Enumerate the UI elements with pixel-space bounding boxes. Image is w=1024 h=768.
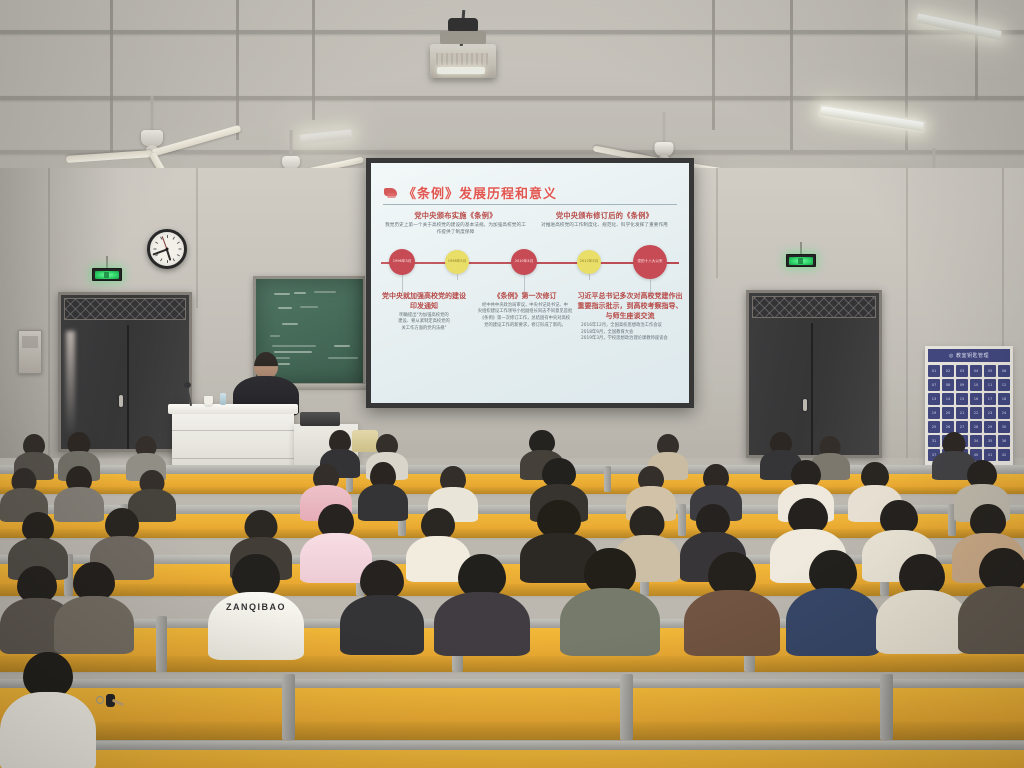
timeline-node: 1996年3月 xyxy=(389,249,415,275)
paper-cup xyxy=(204,396,213,405)
bottom-block-3-body: 2016年12月，全国高校思想政治工作会议2018年9月，全国教育大会2019年… xyxy=(575,323,685,343)
timeline-node-label: 2012年5月 xyxy=(579,258,600,264)
microphone-icon xyxy=(184,382,191,388)
bottom-block-3-heading: 习近平总书记多次对高校党建作出重要指示批示，到高校考察指导、与师生座谈交流 xyxy=(575,291,685,321)
bottom-block-body-line: 2019年3月，学校思想政治理论课教师座谈会 xyxy=(581,336,685,343)
party-emblem-icon xyxy=(383,186,399,199)
key-board-header: ◎ 教室钥匙管理 xyxy=(928,349,1010,362)
bottom-block-body-line: 2016年12月，全国高校思想政治工作会议 xyxy=(581,323,685,330)
slide-top-blocks: 党中央颁布实施《条例》 我党历史上第一个关于高校党的建设的基本法规，为加强高校党… xyxy=(379,211,681,237)
key-board-cell[interactable]: 10 xyxy=(970,379,982,391)
projection-screen: 《条例》发展历程和意义 党中央颁布实施《条例》 我党历史上第一个关于高校党的建设… xyxy=(366,158,694,408)
timeline-node: 2010年4月 xyxy=(511,249,537,275)
key-board-cell[interactable]: 21 xyxy=(956,407,968,419)
slide-bottom-block-2: 《条例》第一次修订 经中共中央政治局审议，中央书记处书记、中央组织建设工作领导小… xyxy=(477,291,573,330)
console-monitor xyxy=(300,412,340,426)
key-board-cell[interactable]: 05 xyxy=(984,365,996,377)
student-r3-white2 xyxy=(876,554,968,652)
bottom-block-body-line: 关工作方面的党内法规" xyxy=(381,326,467,333)
key-board-cell[interactable]: 11 xyxy=(984,379,996,391)
timeline-connector xyxy=(589,274,590,280)
timeline-node: 2012年5月 xyxy=(577,250,601,274)
student-r3-whitejacket: ZANQIBAO xyxy=(208,554,304,654)
wall-clock xyxy=(147,229,187,269)
student-r3-2 xyxy=(54,562,134,650)
slide-top-block-2: 党中央颁布修订后的《条例》 对推进高校党的工作制度化、规范化、科学化发挥了重要作… xyxy=(532,211,677,237)
key-board-cell[interactable]: 03 xyxy=(956,365,968,377)
student-r3-blue xyxy=(786,550,880,652)
exit-sign-stem-left xyxy=(106,256,108,268)
key-board-cell[interactable]: 22 xyxy=(970,407,982,419)
water-bottle xyxy=(220,393,226,405)
emergency-exit-sign-right xyxy=(786,254,816,267)
door-left-transom xyxy=(64,298,186,320)
key-board-cell[interactable]: 23 xyxy=(984,407,996,419)
emergency-exit-sign-left xyxy=(92,268,122,281)
bottom-block-body-line: 央组织建设工作领导小组副组长同志不同意见首批 xyxy=(477,309,573,316)
desk-row-2 xyxy=(0,686,1024,740)
exit-running-man-icon xyxy=(95,271,119,279)
key-board-cell[interactable]: 16 xyxy=(970,393,982,405)
door-right-transom xyxy=(752,296,876,318)
timeline-node-label: 党的十八大以来 xyxy=(636,258,663,264)
key-board-cell[interactable]: 17 xyxy=(984,393,996,405)
top-block-1-heading: 党中央颁布实施《条例》 xyxy=(383,211,528,221)
key-board-cell[interactable]: 07 xyxy=(928,379,940,391)
key-board-cell[interactable]: 09 xyxy=(956,379,968,391)
bottom-block-1-heading: 党中央就加强高校党的建设印发通知 xyxy=(381,291,467,311)
slide-bottom-blocks: 党中央就加强高校党的建设印发通知 明确提出"为加强高校党的建设、要从紧制定高校党… xyxy=(379,291,681,377)
timeline-node-label: 2010年4月 xyxy=(514,258,535,264)
slide-timeline: 1996年3月1998年5月2010年4月2012年5月党的十八大以来 xyxy=(381,243,679,283)
slide-title-divider xyxy=(383,204,677,205)
timeline-node: 1998年5月 xyxy=(445,250,469,274)
exit-running-man-icon-2 xyxy=(789,257,813,265)
audience-seating: ZANQIBAO xyxy=(0,430,1024,768)
bottom-block-body-line: 党的建设工作的新要求，修订形成了新的。 xyxy=(477,323,573,330)
key-board-cell[interactable]: 14 xyxy=(942,393,954,405)
student-r3-4 xyxy=(340,560,424,652)
key-board-cell[interactable]: 24 xyxy=(998,407,1010,419)
top-block-2-heading: 党中央颁布修订后的《条例》 xyxy=(532,211,677,221)
key-board-cell[interactable]: 01 xyxy=(928,365,940,377)
student-r3-brown xyxy=(684,552,780,652)
key-board-cell[interactable]: 08 xyxy=(942,379,954,391)
car-key-fob[interactable] xyxy=(94,692,124,710)
lecture-hall-photo: ◎ 教室钥匙管理 0102030405060708091011121314151… xyxy=(0,0,1024,768)
key-board-cell[interactable]: 13 xyxy=(928,393,940,405)
slide-title: 《条例》发展历程和意义 xyxy=(403,183,557,202)
top-block-2-body: 对推进高校党的工作制度化、规范化、科学化发挥了重要作用 xyxy=(532,223,677,230)
timeline-node-label: 1996年3月 xyxy=(392,258,413,264)
key-board-cell[interactable]: 02 xyxy=(942,365,954,377)
bottom-block-1-body: 明确提出"为加强高校党的建设、要从紧制定高校党的关工作方面的党内法规" xyxy=(381,313,467,333)
bottom-block-2-heading: 《条例》第一次修订 xyxy=(477,291,573,301)
presentation-slide: 《条例》发展历程和意义 党中央颁布实施《条例》 我党历史上第一个关于高校党的建设… xyxy=(371,163,689,403)
exit-sign-stem-right xyxy=(800,242,802,254)
key-board-cell[interactable]: 12 xyxy=(998,379,1010,391)
bottom-block-body-line: 《条例》第一次修订工作，总结固有中央对高校 xyxy=(477,316,573,323)
student-r1-1 xyxy=(0,652,96,768)
timeline-node: 党的十八大以来 xyxy=(633,245,667,279)
bottom-block-2-body: 经中共中央政治局审议，中央书记处书记、中央组织建设工作领导小组副组长同志不同意见… xyxy=(477,303,573,330)
student-r3-5 xyxy=(434,554,530,652)
top-block-1-body: 我党历史上第一个关于高校党的建设的基本法规，为加强高校党的工作提供了制度保障 xyxy=(383,223,528,237)
desk-row-1 xyxy=(0,748,1024,768)
slide-bottom-block-3: 习近平总书记多次对高校党建作出重要指示批示，到高校考察指导、与师生座谈交流 20… xyxy=(575,291,685,343)
timeline-node-label: 1998年5月 xyxy=(447,258,468,264)
key-board-cell[interactable]: 06 xyxy=(998,365,1010,377)
slide-bottom-block-1: 党中央就加强高校党的建设印发通知 明确提出"为加强高校党的建设、要从紧制定高校党… xyxy=(381,291,467,333)
ceiling-projector xyxy=(430,44,496,78)
key-board-cell[interactable]: 20 xyxy=(942,407,954,419)
timeline-connector xyxy=(457,274,458,280)
key-board-cell[interactable]: 15 xyxy=(956,393,968,405)
jacket-brand-text: ZANQIBAO xyxy=(226,602,286,612)
key-board-cell[interactable]: 04 xyxy=(970,365,982,377)
key-board-cell[interactable]: 19 xyxy=(928,407,940,419)
wall-electrical-panel[interactable] xyxy=(18,330,42,374)
student-r3-olive xyxy=(560,548,660,652)
slide-top-block-1: 党中央颁布实施《条例》 我党历史上第一个关于高校党的建设的基本法规，为加强高校党… xyxy=(383,211,528,237)
projector-lens xyxy=(437,67,485,74)
key-board-cell[interactable]: 18 xyxy=(998,393,1010,405)
student-r3-dark xyxy=(958,548,1024,652)
